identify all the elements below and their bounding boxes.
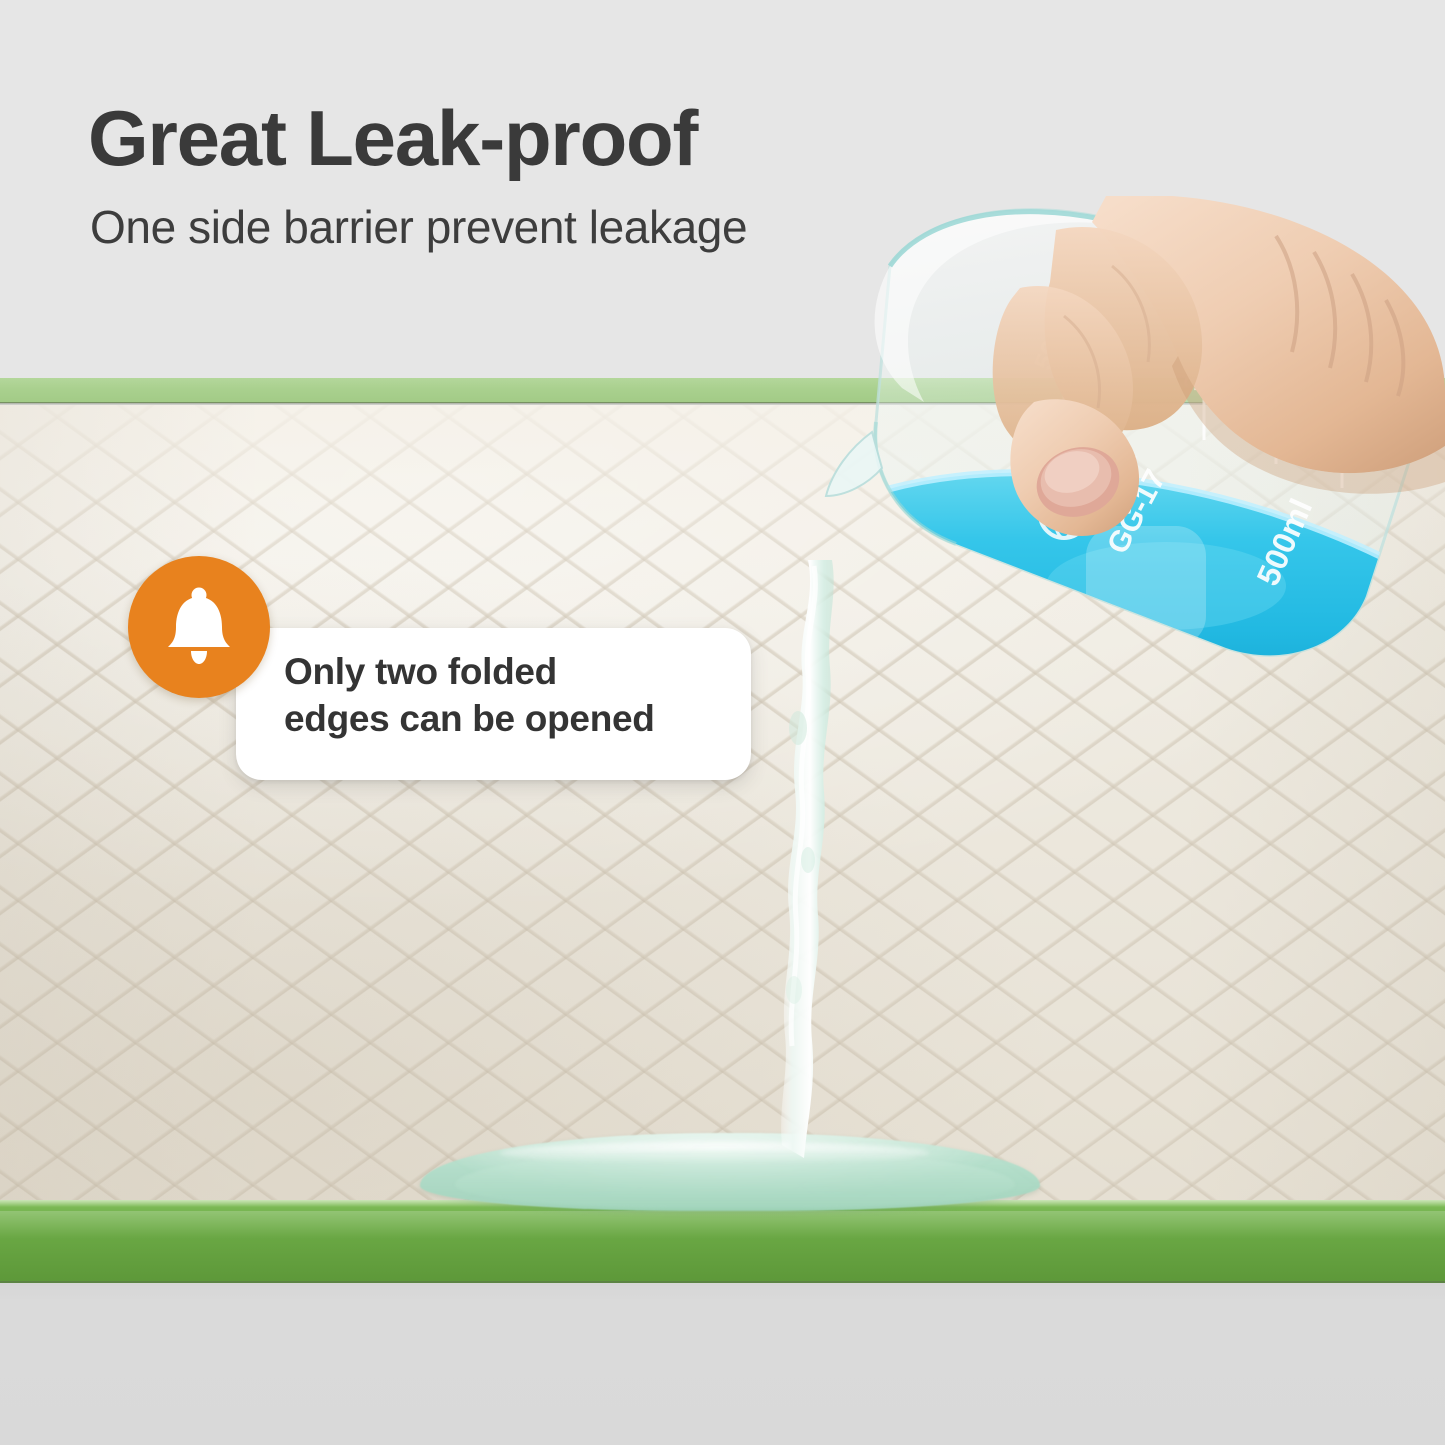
- callout-text: Only two folded edges can be opened: [284, 648, 754, 742]
- bell-icon: [162, 587, 236, 667]
- product-feature-image: Great Leak-proof One side barrier preven…: [0, 0, 1445, 1445]
- callout-text-line1: Only two folded: [284, 648, 754, 695]
- floor-background: [0, 1283, 1445, 1445]
- callout-text-line2: edges can be opened: [284, 695, 754, 742]
- callout-badge: [128, 556, 270, 698]
- pad-barrier-sheen: [0, 1211, 1445, 1239]
- page-subtitle: One side barrier prevent leakage: [90, 198, 747, 256]
- beaker-and-hand: 500 APPROX 300 200 100 GG-17 500ml: [806, 196, 1445, 696]
- page-title: Great Leak-proof: [88, 96, 697, 180]
- puddle-highlight: [500, 1142, 930, 1164]
- feature-callout: Only two folded edges can be opened: [128, 556, 758, 784]
